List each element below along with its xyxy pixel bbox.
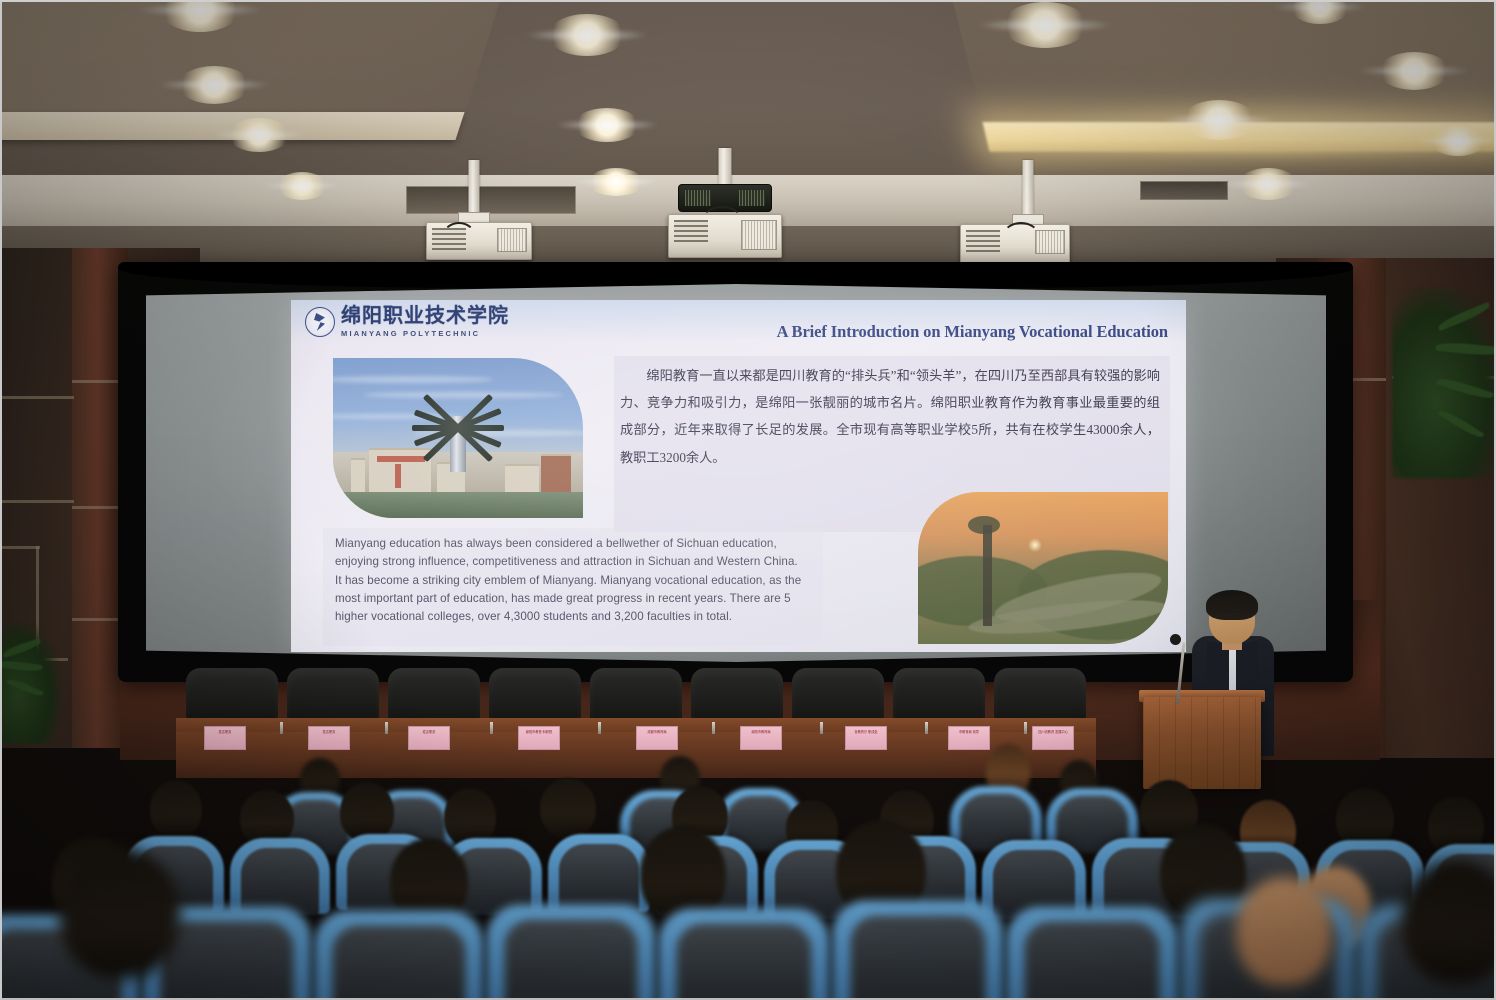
downlight-icon [1378, 52, 1450, 90]
table-microphone [712, 722, 715, 734]
audience-head [150, 780, 202, 838]
downlight-icon [1182, 100, 1256, 140]
downlight-icon [548, 14, 626, 56]
auditorium-seat[interactable] [230, 838, 330, 914]
audience-head [540, 778, 596, 838]
slide-title: A Brief Introduction on Mianyang Vocatio… [777, 322, 1168, 342]
downlight-icon [276, 172, 328, 200]
ceiling-projector-right [950, 160, 1075, 260]
downlight-icon [1430, 126, 1486, 156]
slide-image-sunset [918, 492, 1168, 644]
nameplate: 绵阳市教育局 [740, 726, 782, 750]
chinese-paragraph: 绵阳教育一直以来都是四川教育的“排头兵”和“领头羊”，在四川乃至西部具有较强的影… [620, 362, 1160, 471]
downlight-icon [1002, 2, 1088, 48]
nameplate: 市教育局 领导 [948, 726, 990, 750]
audience-head [60, 848, 180, 978]
downlight-icon [574, 108, 640, 142]
table-microphone [280, 722, 283, 734]
table-microphone [820, 722, 823, 734]
auditorium-seat[interactable] [1006, 906, 1178, 1000]
university-seal-icon [305, 307, 335, 337]
audience-head [340, 782, 394, 842]
ceiling-vent-right [1140, 181, 1228, 200]
auditorium-seat[interactable] [832, 900, 1004, 1000]
downlight-icon [228, 118, 290, 152]
presenter-glasses-icon [1214, 614, 1248, 622]
projection-screen-surface: 绵阳职业技术学院 MIANYANG POLYTECHNIC A Brief In… [146, 284, 1326, 662]
ceiling-projector-center [660, 148, 790, 258]
projection-screen-frame: 绵阳职业技术学院 MIANYANG POLYTECHNIC A Brief In… [118, 262, 1353, 682]
sun-icon [1028, 538, 1042, 552]
head-table-chairs [186, 664, 1086, 726]
auditorium-seat[interactable] [314, 910, 484, 1000]
slide-image-monument [333, 358, 583, 518]
auditorium-seat[interactable] [658, 908, 830, 1000]
downlight-icon [178, 66, 250, 104]
monument-burst-icon [410, 402, 506, 448]
ceiling-projector-left [424, 160, 544, 260]
nameplate: 绵阳市教育 科研院 [518, 726, 560, 750]
logo-name-en: MIANYANG POLYTECHNIC [341, 329, 509, 338]
logo-name-cn: 绵阳职业技术学院 [341, 306, 509, 326]
institution-logo: 绵阳职业技术学院 MIANYANG POLYTECHNIC [305, 306, 509, 338]
lectern [1143, 697, 1261, 789]
nameplate: 四川省教育 发展中心 [1032, 726, 1074, 750]
audience-head [1402, 860, 1496, 984]
auditorium-seat[interactable] [486, 904, 656, 1000]
downlight-icon [1238, 168, 1298, 200]
table-microphone [598, 722, 601, 734]
microphone-icon [1170, 634, 1181, 645]
nameplate: 成都市教育局 [636, 726, 678, 750]
auditorium-seat[interactable] [548, 834, 650, 912]
slide-image-ground [333, 492, 583, 518]
downlight-icon [588, 168, 644, 196]
audience-head [1236, 876, 1332, 986]
nameplate: 省教育厅 职成处 [845, 726, 887, 750]
nameplate: 姓名职务 [408, 726, 450, 750]
nameplate: 姓名职务 [204, 726, 246, 750]
table-microphone [1024, 722, 1027, 734]
table-microphone [385, 722, 388, 734]
table-microphone [925, 722, 928, 734]
presentation-slide: 绵阳职业技术学院 MIANYANG POLYTECHNIC A Brief In… [291, 300, 1186, 652]
nameplate: 姓名职务 [308, 726, 350, 750]
auditorium-photo: 绵阳职业技术学院 MIANYANG POLYTECHNIC A Brief In… [0, 0, 1496, 1000]
english-paragraph: Mianyang education has always been consi… [335, 535, 805, 627]
table-microphone [490, 722, 493, 734]
